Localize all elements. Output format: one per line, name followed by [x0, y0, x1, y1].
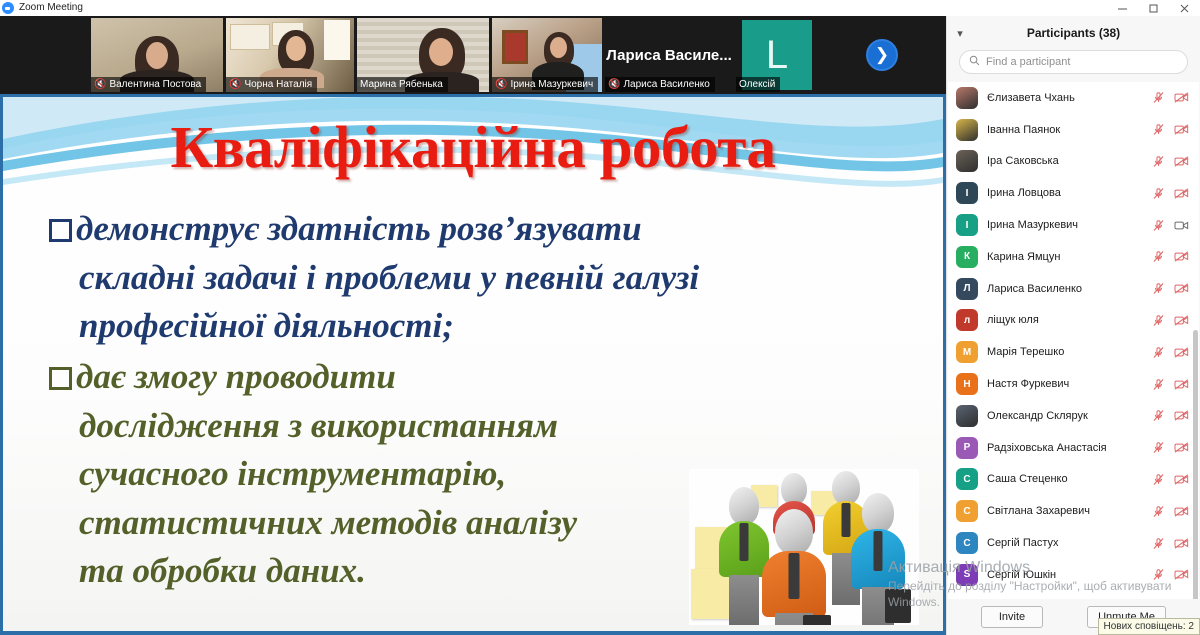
- participant-row[interactable]: SСергій Юшкін: [948, 559, 1199, 591]
- video-off-icon[interactable]: [1174, 568, 1189, 581]
- mic-off-icon: 🔇: [229, 80, 241, 90]
- participant-row[interactable]: лліщук юля: [948, 305, 1199, 337]
- mic-off-icon[interactable]: [1152, 187, 1165, 200]
- restore-icon[interactable]: [1138, 0, 1169, 16]
- participant-name: Олександр Склярук: [987, 410, 1152, 422]
- participant-row[interactable]: Іванна Паянок: [948, 114, 1199, 146]
- avatar-initial: Н: [956, 373, 978, 395]
- thumbnail-name: 🔇 Чорна Наталія: [226, 77, 317, 92]
- participant-status-icons: [1152, 568, 1189, 581]
- avatar-initial: С: [956, 532, 978, 554]
- participant-name: Ірина Мазуркевич: [987, 219, 1152, 231]
- participant-name: Лариса Василенко: [987, 283, 1152, 295]
- mic-off-icon[interactable]: [1152, 123, 1165, 136]
- slide-bullet: демонструє здатність розв’язувати складн…: [49, 205, 849, 351]
- video-off-icon[interactable]: [1174, 378, 1189, 391]
- mic-off-icon[interactable]: [1152, 537, 1165, 550]
- invite-button[interactable]: Invite: [981, 606, 1043, 628]
- mic-off-icon[interactable]: [1152, 155, 1165, 168]
- participant-name: Ірина Ловцова: [987, 187, 1152, 199]
- mic-off-icon[interactable]: [1152, 282, 1165, 295]
- thumbnail-name: 🔇 Валентина Постова: [91, 77, 206, 92]
- bullet-square-icon: [49, 367, 72, 390]
- mic-off-icon: 🔇: [608, 80, 620, 90]
- participant-status-icons: [1152, 409, 1189, 422]
- participant-status-icons: [1152, 282, 1189, 295]
- video-off-icon[interactable]: [1174, 91, 1189, 104]
- avatar-initial: І: [956, 214, 978, 236]
- search-container: [947, 50, 1200, 82]
- mic-off-icon[interactable]: [1152, 91, 1165, 104]
- search-input[interactable]: [986, 56, 1178, 68]
- mic-off-icon[interactable]: [1152, 250, 1165, 263]
- video-off-icon[interactable]: [1174, 282, 1189, 295]
- video-off-icon[interactable]: [1174, 123, 1189, 136]
- participant-name: Іра Саковська: [987, 155, 1152, 167]
- shared-screen-stage: Кваліфікаційна робота демонструє здатніс…: [0, 94, 946, 635]
- participant-row[interactable]: Олександр Склярук: [948, 400, 1199, 432]
- participant-status-icons: [1152, 378, 1189, 391]
- participant-row[interactable]: ІІрина Мазуркевич: [948, 209, 1199, 241]
- participant-status-icons: [1152, 314, 1189, 327]
- thumbnail-name: Олексій: [736, 77, 780, 92]
- participant-status-icons: [1152, 250, 1189, 263]
- team-figurines-with-notes-illustration: [689, 469, 919, 625]
- avatar-initial: Л: [956, 278, 978, 300]
- participant-row[interactable]: Єлизавета Чхань: [948, 82, 1199, 114]
- video-off-icon[interactable]: [1174, 537, 1189, 550]
- zoom-meeting-window: Zoom Meeting 🔇 Валентина Постова: [0, 0, 1200, 635]
- close-icon[interactable]: [1169, 0, 1200, 16]
- video-off-icon[interactable]: [1174, 250, 1189, 263]
- participant-name: Світлана Захаревич: [987, 505, 1152, 517]
- presentation-slide: Кваліфікаційна робота демонструє здатніс…: [3, 97, 943, 631]
- participant-row[interactable]: ССаша Стеценко: [948, 464, 1199, 496]
- participants-list[interactable]: Єлизавета ЧханьІванна ПаянокІра Саковськ…: [948, 82, 1199, 599]
- participant-row[interactable]: ККарина Ямцун: [948, 241, 1199, 273]
- avatar-initial: С: [956, 468, 978, 490]
- thumbnail-tile-no-video[interactable]: Лариса Василе... 🔇 Лариса Василенко: [605, 18, 733, 92]
- thumbnail-tile-active-speaker[interactable]: Марина Рябенька: [357, 18, 489, 92]
- avatar-initial: л: [956, 309, 978, 331]
- notification-toast[interactable]: Нових сповіщень: 2: [1098, 618, 1200, 635]
- video-off-icon[interactable]: [1174, 505, 1189, 518]
- participant-status-icons: [1152, 219, 1189, 232]
- thumbnail-tile[interactable]: 🔇 Валентина Постова: [91, 18, 223, 92]
- thumbnail-name: 🔇 Лариса Василенко: [605, 77, 715, 92]
- participant-status-icons: [1152, 123, 1189, 136]
- mic-off-icon[interactable]: [1152, 219, 1165, 232]
- participant-name: Єлизавета Чхань: [987, 92, 1152, 104]
- active-speaker-name: Лариса Василе...: [606, 47, 732, 64]
- avatar-initial: S: [956, 564, 978, 586]
- participant-row[interactable]: ННастя Фуркевич: [948, 368, 1199, 400]
- participant-name: Іванна Паянок: [987, 124, 1152, 136]
- participant-name: ліщук юля: [987, 314, 1152, 326]
- zoom-logo-icon: [2, 2, 14, 14]
- window-controls: [1107, 0, 1200, 16]
- participant-row[interactable]: Іра Саковська: [948, 146, 1199, 178]
- participant-status-icons: [1152, 187, 1189, 200]
- avatar-initial: К: [956, 246, 978, 268]
- participant-name: Настя Фуркевич: [987, 378, 1152, 390]
- participant-row[interactable]: РРадзіховська Анастасія: [948, 432, 1199, 464]
- participant-row[interactable]: ММарія Терешко: [948, 336, 1199, 368]
- participant-filmstrip: 🔇 Валентина Постова 🔇 Чорна Наталія: [0, 16, 946, 94]
- participant-status-icons: [1152, 155, 1189, 168]
- mic-off-icon[interactable]: [1152, 346, 1165, 359]
- avatar-photo: [956, 150, 978, 172]
- participant-name: Саша Стеценко: [987, 473, 1152, 485]
- participant-row[interactable]: ССвітлана Захаревич: [948, 495, 1199, 527]
- video-off-icon[interactable]: [1174, 473, 1189, 486]
- mic-off-icon: 🔇: [94, 80, 106, 90]
- mic-off-icon[interactable]: [1152, 314, 1165, 327]
- avatar-photo: [956, 87, 978, 109]
- thumbnail-name: 🔇 Ірина Мазуркевич: [492, 77, 598, 92]
- avatar-photo: [956, 405, 978, 427]
- video-off-icon[interactable]: [1174, 409, 1189, 422]
- video-off-icon[interactable]: [1174, 346, 1189, 359]
- video-off-icon[interactable]: [1174, 155, 1189, 168]
- mic-off-icon[interactable]: [1152, 409, 1165, 422]
- mic-off-icon[interactable]: [1152, 378, 1165, 391]
- participants-scrollbar[interactable]: [1193, 330, 1198, 599]
- video-off-icon[interactable]: [1174, 441, 1189, 454]
- chevron-right-icon[interactable]: ❯: [866, 39, 898, 71]
- mic-off-icon[interactable]: [1152, 568, 1165, 581]
- bullet-square-icon: [49, 219, 72, 242]
- participant-status-icons: [1152, 537, 1189, 550]
- thumbnail-tile-avatar[interactable]: L Олексій: [736, 18, 818, 92]
- mic-off-icon[interactable]: [1152, 473, 1165, 486]
- avatar-initial: С: [956, 500, 978, 522]
- participant-row[interactable]: ЛЛариса Василенко: [948, 273, 1199, 305]
- search-box[interactable]: [959, 50, 1188, 74]
- participant-status-icons: [1152, 505, 1189, 518]
- participant-row[interactable]: ССергій Пастух: [948, 527, 1199, 559]
- thumbnail-name: Марина Рябенька: [357, 77, 448, 92]
- participant-status-icons: [1152, 441, 1189, 454]
- participant-status-icons: [1152, 91, 1189, 104]
- mic-off-icon: 🔇: [495, 80, 507, 90]
- avatar-initial: Р: [956, 437, 978, 459]
- participant-row[interactable]: ІІрина Ловцова: [948, 177, 1199, 209]
- participant-name: Карина Ямцун: [987, 251, 1152, 263]
- chevron-down-icon[interactable]: ▾: [947, 27, 973, 40]
- thumbnail-tile[interactable]: 🔇 Чорна Наталія: [226, 18, 354, 92]
- participant-name: Марія Терешко: [987, 346, 1152, 358]
- search-icon: [969, 55, 980, 69]
- participant-name: Сергій Юшкін: [987, 569, 1152, 581]
- window-titlebar: Zoom Meeting: [0, 0, 1200, 16]
- minimize-icon[interactable]: [1107, 0, 1138, 16]
- participant-name: Сергій Пастух: [987, 537, 1152, 549]
- video-on-icon[interactable]: [1174, 219, 1189, 232]
- avatar-initial: М: [956, 341, 978, 363]
- avatar-initial: І: [956, 182, 978, 204]
- participants-panel-header: ▾ Participants (38): [947, 16, 1200, 50]
- window-title: Zoom Meeting: [19, 0, 83, 16]
- participant-status-icons: [1152, 473, 1189, 486]
- mic-off-icon[interactable]: [1152, 505, 1165, 518]
- thumbnail-tile[interactable]: 🔇 Ірина Мазуркевич: [492, 18, 602, 92]
- slide-title: Кваліфікаційна робота: [3, 113, 943, 182]
- participant-status-icons: [1152, 346, 1189, 359]
- participants-panel-title: Participants (38): [973, 26, 1174, 40]
- mic-off-icon[interactable]: [1152, 441, 1165, 454]
- video-off-icon[interactable]: [1174, 187, 1189, 200]
- participant-name: Радзіховська Анастасія: [987, 442, 1152, 454]
- video-off-icon[interactable]: [1174, 314, 1189, 327]
- avatar-photo: [956, 119, 978, 141]
- participants-panel: ▾ Participants (38) Єлизавета ЧханьІванн…: [946, 16, 1200, 635]
